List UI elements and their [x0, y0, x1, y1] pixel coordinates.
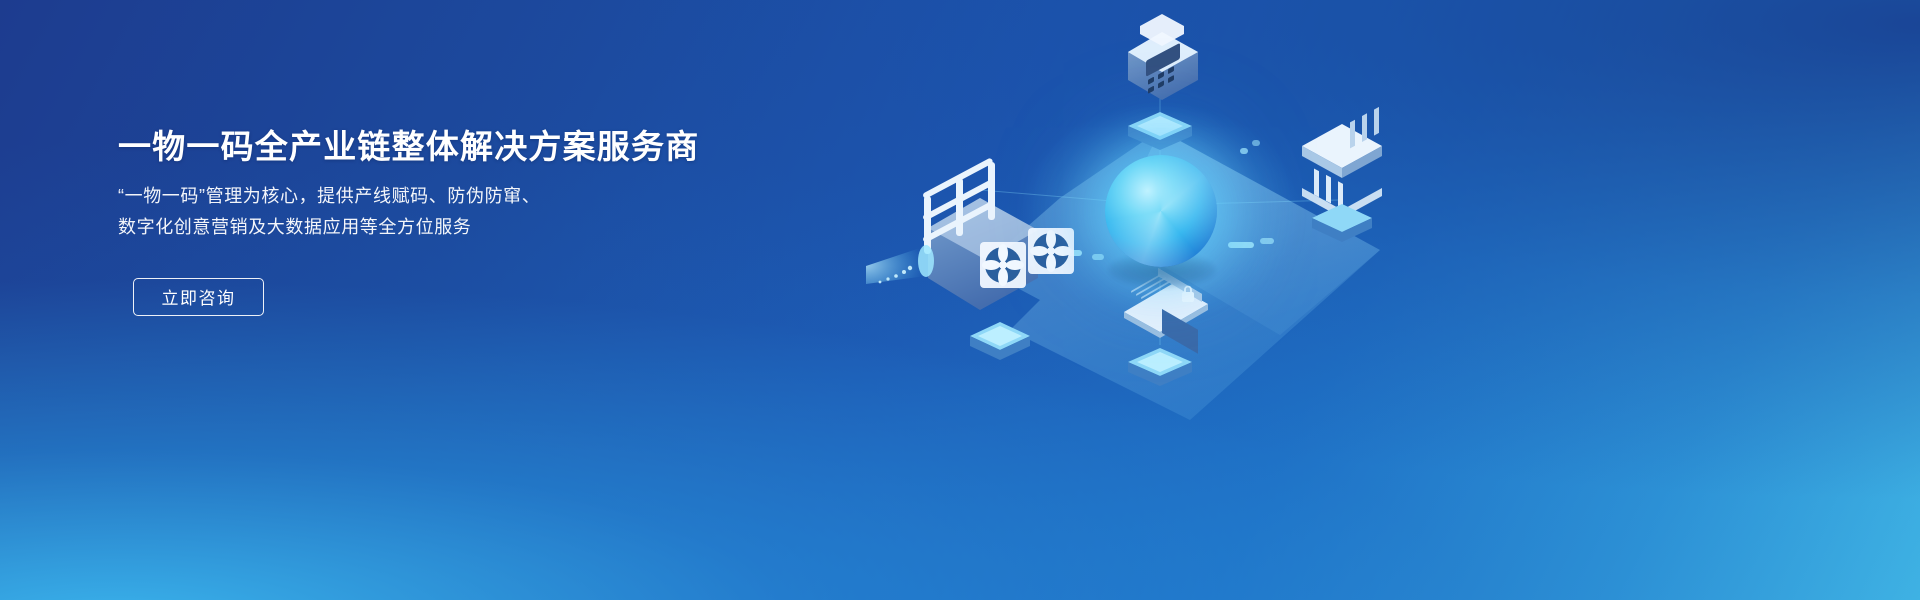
scanner-beam	[866, 245, 934, 284]
page-title: 一物一码全产业链整体解决方案服务商	[118, 126, 818, 167]
hero-banner: 一物一码全产业链整体解决方案服务商 “一物一码”管理为核心，提供产线赋码、防伪防…	[0, 0, 1920, 600]
bank-building-icon	[1302, 107, 1382, 218]
central-glow-sphere	[1105, 155, 1217, 267]
subtitle-line-1: “一物一码”管理为核心，提供产线赋码、防伪防窜、	[118, 181, 818, 212]
hero-text-block: 一物一码全产业链整体解决方案服务商 “一物一码”管理为核心，提供产线赋码、防伪防…	[118, 126, 818, 243]
consult-now-button[interactable]: 立即咨询	[133, 278, 264, 316]
hero-subtitle: “一物一码”管理为核心，提供产线赋码、防伪防窜、 数字化创意营销及大数据应用等全…	[118, 181, 818, 243]
illustration-container	[860, 0, 1480, 600]
pos-terminal-icon	[1128, 14, 1198, 100]
subtitle-line-2: 数字化创意营销及大数据应用等全方位服务	[118, 212, 818, 243]
isometric-scene-svg	[860, 0, 1480, 600]
sphere-band	[1105, 155, 1217, 267]
